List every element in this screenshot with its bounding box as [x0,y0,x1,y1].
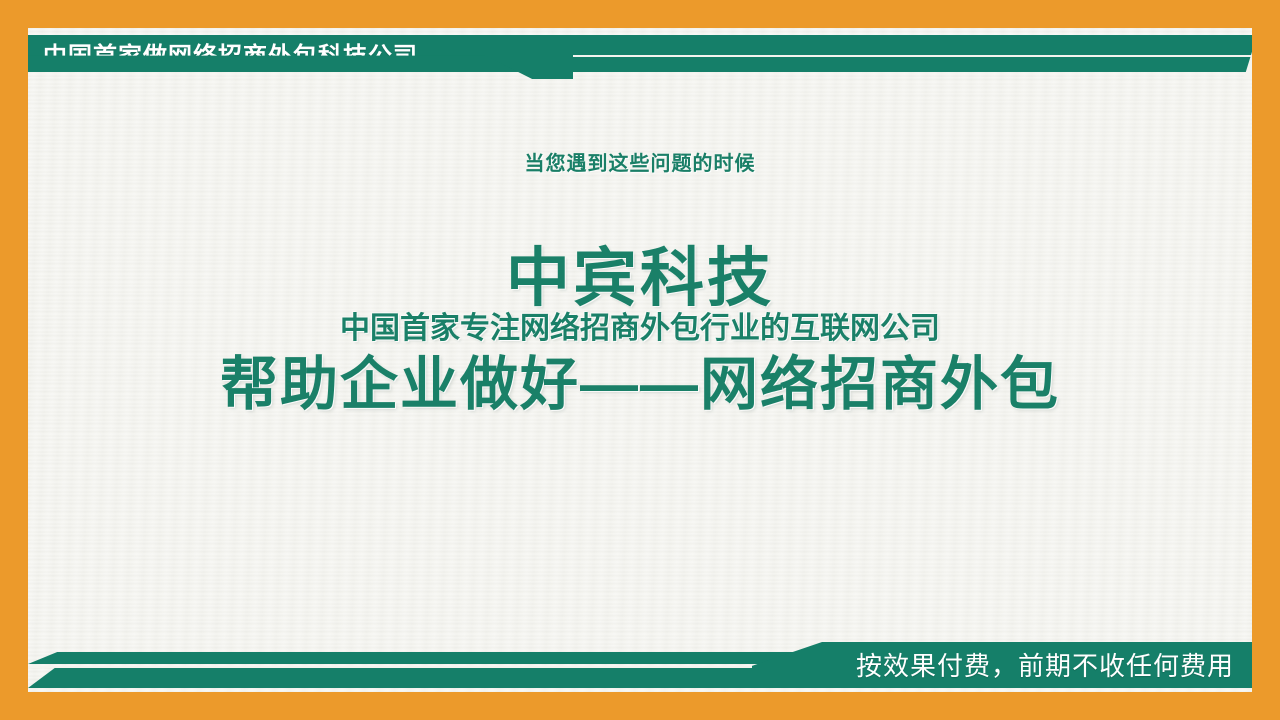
footer-text-block: 按效果付费，前期不收任何费用 [752,642,1252,688]
slide-header: 中国首家做网络招商外包科技公司 [28,35,1252,79]
header-hairline-divider [540,55,1252,57]
footer-text: 按效果付费，前期不收任何费用 [856,647,1234,685]
main-headline: 帮助企业做好——网络招商外包 [0,352,1280,418]
slide-root: 中国首家做网络招商外包科技公司 当您遇到这些问题的时候 中宾科技 中国首家专注网… [0,0,1280,720]
company-brand-name: 中宾科技 [0,242,1280,314]
company-tagline: 中国首家专注网络招商外包行业的互联网公司 [0,310,1280,348]
content-kicker: 当您遇到这些问题的时候 [0,150,1280,178]
footer-hairline-divider [28,666,768,668]
footer-upper-strip [28,652,818,664]
slide-footer: 按效果付费，前期不收任何费用 [28,640,1252,688]
slide-content: 当您遇到这些问题的时候 中宾科技 中国首家专注网络招商外包行业的互联网公司 帮助… [0,150,1280,418]
